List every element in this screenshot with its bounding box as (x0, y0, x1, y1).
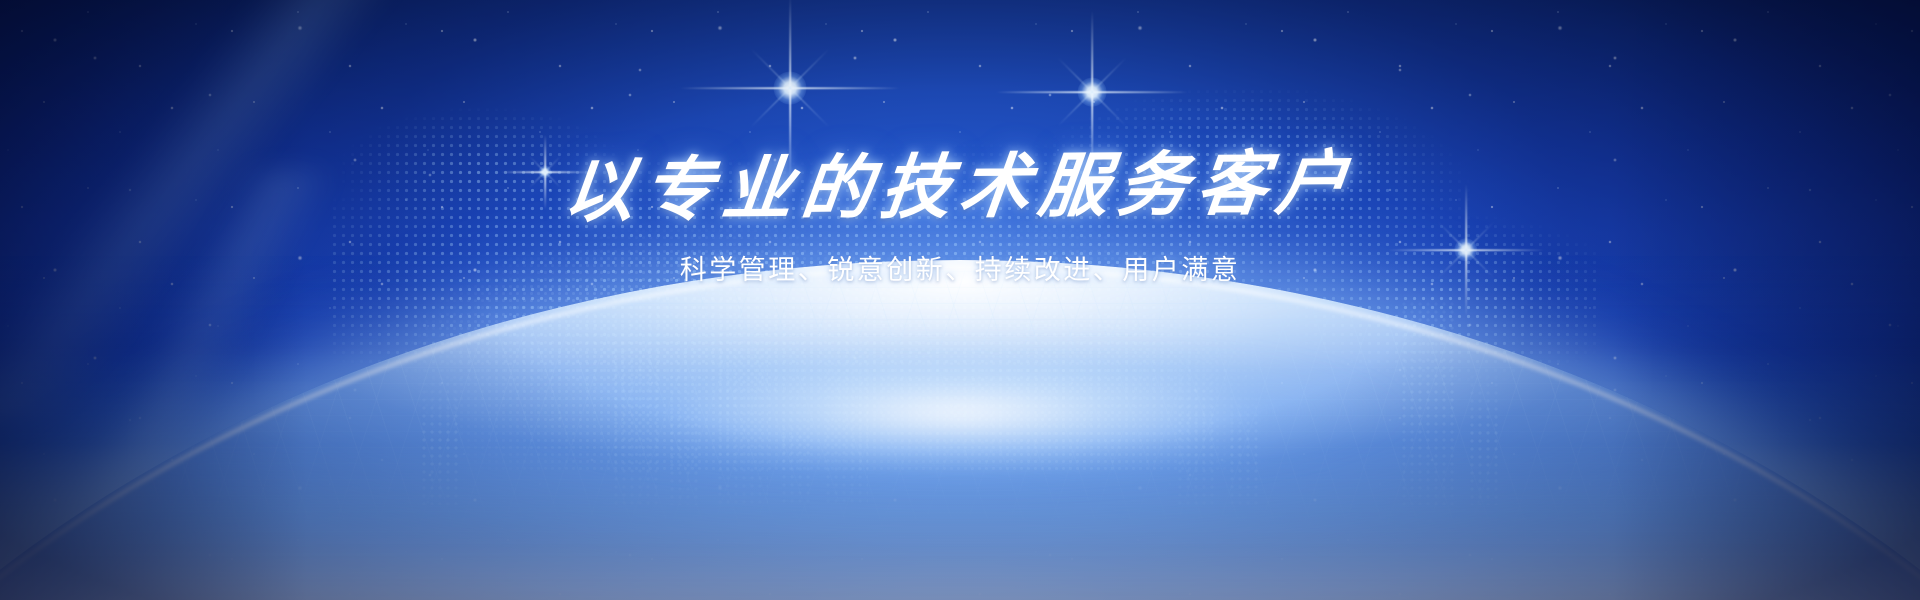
hero-banner: 以专业的技术服务客户 科学管理、锐意创新、持续改进、用户满意 (0, 0, 1920, 600)
